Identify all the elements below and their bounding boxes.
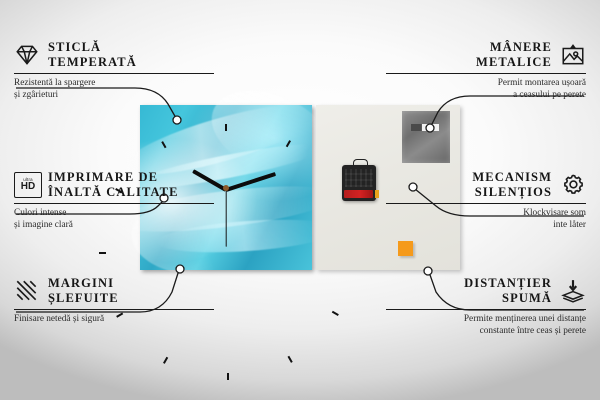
hour-tick xyxy=(161,141,166,148)
clock-minute-hand xyxy=(225,172,276,192)
feature-title: DISTANȚIER SPUMĂ xyxy=(464,276,552,306)
feature-silent-mechanism: MECANISM SILENȚIOS Klockvisare som inte … xyxy=(386,170,586,232)
hour-tick xyxy=(99,252,106,254)
feature-header: MARGINI ȘLEFUITE xyxy=(14,276,214,309)
gear-icon xyxy=(560,172,586,198)
hour-tick xyxy=(225,124,227,131)
feature-description: Permit montarea ușoară a ceasului pe per… xyxy=(386,74,586,102)
foam-spacer-square xyxy=(398,241,413,256)
feature-title: MARGINI ȘLEFUITE xyxy=(48,276,119,306)
clock-center-hub xyxy=(223,185,229,191)
feature-metal-handles: MÂNERE METALICE Permit montarea ușoară a… xyxy=(386,40,586,102)
feature-foam-spacer: DISTANȚIER SPUMĂ Permite menținerea unei… xyxy=(386,276,586,338)
feature-header: STICLĂ TEMPERATĂ xyxy=(14,40,214,73)
metal-hanger-plate xyxy=(402,111,450,163)
feature-header: DISTANȚIER SPUMĂ xyxy=(386,276,586,309)
feature-description: Klockvisare som inte låter xyxy=(386,204,586,232)
feature-title: MECANISM SILENȚIOS xyxy=(472,170,552,200)
feature-description: Finisare netedă și sigură xyxy=(14,310,214,325)
feature-tempered-glass: STICLĂ TEMPERATĂ Rezistentă la spargere … xyxy=(14,40,214,102)
mechanism-texture xyxy=(345,169,373,187)
hanger-slot xyxy=(411,124,439,131)
hour-tick xyxy=(286,140,291,147)
feature-high-quality-print: ultra HD IMPRIMARE DE ÎNALTĂ CALITATE Cu… xyxy=(14,170,214,232)
hour-tick xyxy=(288,355,293,362)
feature-title: STICLĂ TEMPERATĂ xyxy=(48,40,137,70)
feature-header: ultra HD IMPRIMARE DE ÎNALTĂ CALITATE xyxy=(14,170,214,203)
hd-badge-big-text: HD xyxy=(21,182,35,192)
mechanism-hanging-loop xyxy=(353,159,368,169)
ultra-hd-badge-icon: ultra HD xyxy=(14,172,40,198)
battery xyxy=(344,190,373,198)
feature-title: MÂNERE METALICE xyxy=(476,40,552,70)
feature-description: Permite menținerea unei distanțe constan… xyxy=(386,310,586,338)
feature-title: IMPRIMARE DE ÎNALTĂ CALITATE xyxy=(48,170,179,200)
hour-tick xyxy=(332,310,339,315)
diagonal-lines-icon xyxy=(14,278,40,304)
hour-tick xyxy=(227,373,229,380)
feature-description: Rezistentă la spargere și zgârieturi xyxy=(14,74,214,102)
diamond-icon xyxy=(14,42,40,68)
feature-description: Culori intense și imagine clară xyxy=(14,204,214,232)
picture-frame-hanging-icon xyxy=(560,42,586,68)
battery-terminal xyxy=(375,190,379,198)
arrow-down-onto-layer-icon xyxy=(560,278,586,304)
feature-header: MECANISM SILENȚIOS xyxy=(386,170,586,203)
hour-tick xyxy=(163,356,168,363)
clock-mechanism xyxy=(342,165,376,201)
feature-header: MÂNERE METALICE xyxy=(386,40,586,73)
infographic-canvas: STICLĂ TEMPERATĂ Rezistentă la spargere … xyxy=(0,0,600,400)
feature-polished-edges: MARGINI ȘLEFUITE Finisare netedă și sigu… xyxy=(14,276,214,325)
clock-second-hand xyxy=(225,188,226,246)
